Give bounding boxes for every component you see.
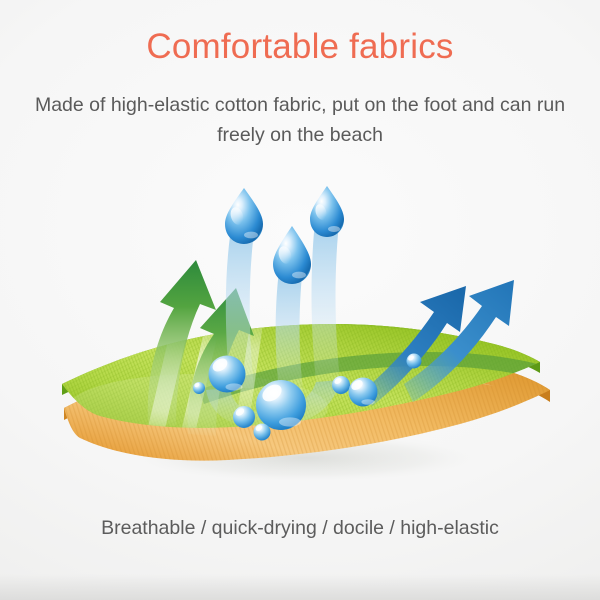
breathable-fabric-illustration xyxy=(48,176,552,494)
surface-droplet-7 xyxy=(407,354,422,369)
vapor-trail-3 xyxy=(312,212,341,382)
page-subtitle: Made of high-elastic cotton fabric, put … xyxy=(0,91,600,150)
surface-droplet-5 xyxy=(332,376,350,394)
surface-droplet-4 xyxy=(254,424,271,441)
surface-droplet-8 xyxy=(193,382,205,394)
surface-droplet-6 xyxy=(349,378,378,407)
feature-caption: Breathable / quick-drying / docile / hig… xyxy=(0,517,600,540)
rising-droplet-3 xyxy=(310,186,344,237)
rising-droplet-1 xyxy=(225,188,263,244)
promo-banner: Comfortable fabrics Made of high-elastic… xyxy=(0,0,600,600)
surface-droplet-2 xyxy=(256,380,306,430)
surface-droplet-3 xyxy=(233,406,255,428)
surface-droplet-1 xyxy=(209,356,246,393)
rising-droplet-2 xyxy=(273,226,311,284)
page-title: Comfortable fabrics xyxy=(0,29,600,66)
